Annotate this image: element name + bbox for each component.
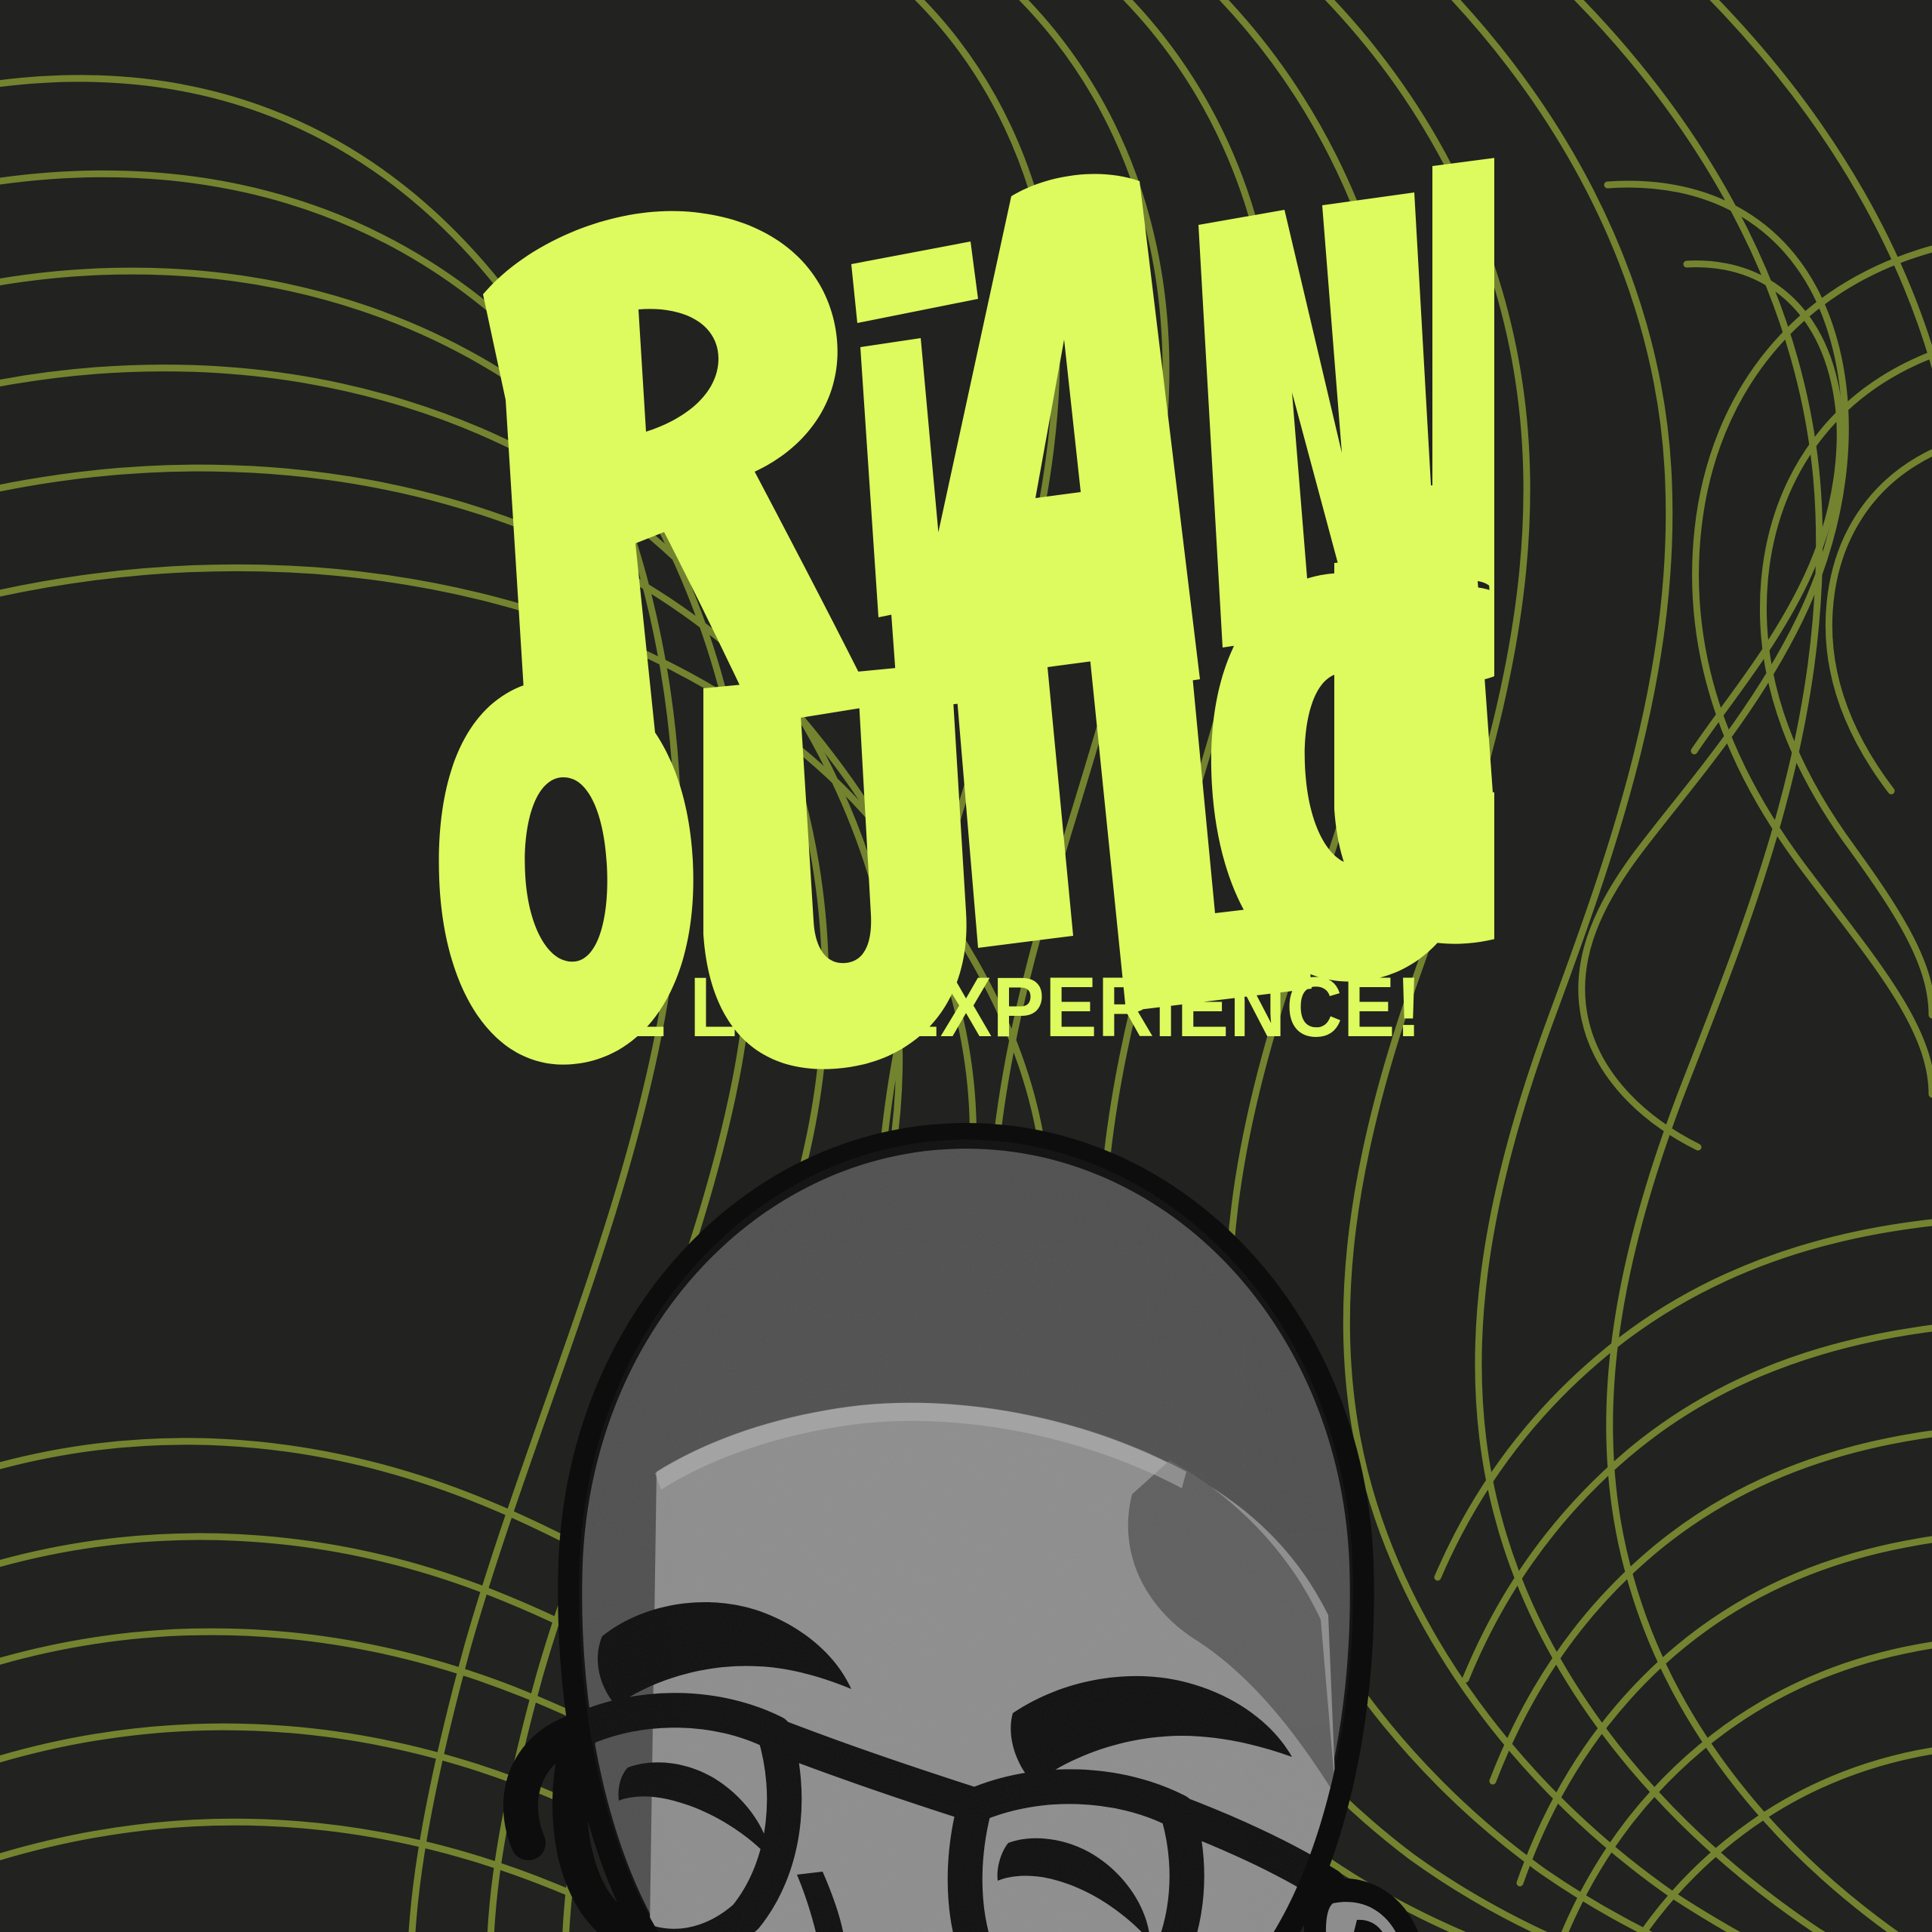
subtitle-text: THE LIVE EXPERIENCE! <box>77 958 1854 1056</box>
poster-canvas: THE LIVE EXPERIENCE! <box>0 0 1932 1932</box>
portrait-grain <box>468 1117 1464 1932</box>
ear-right <box>1304 1878 1425 1932</box>
portrait-illustration <box>468 1117 1464 1932</box>
portrait-artwork <box>468 1117 1464 1932</box>
